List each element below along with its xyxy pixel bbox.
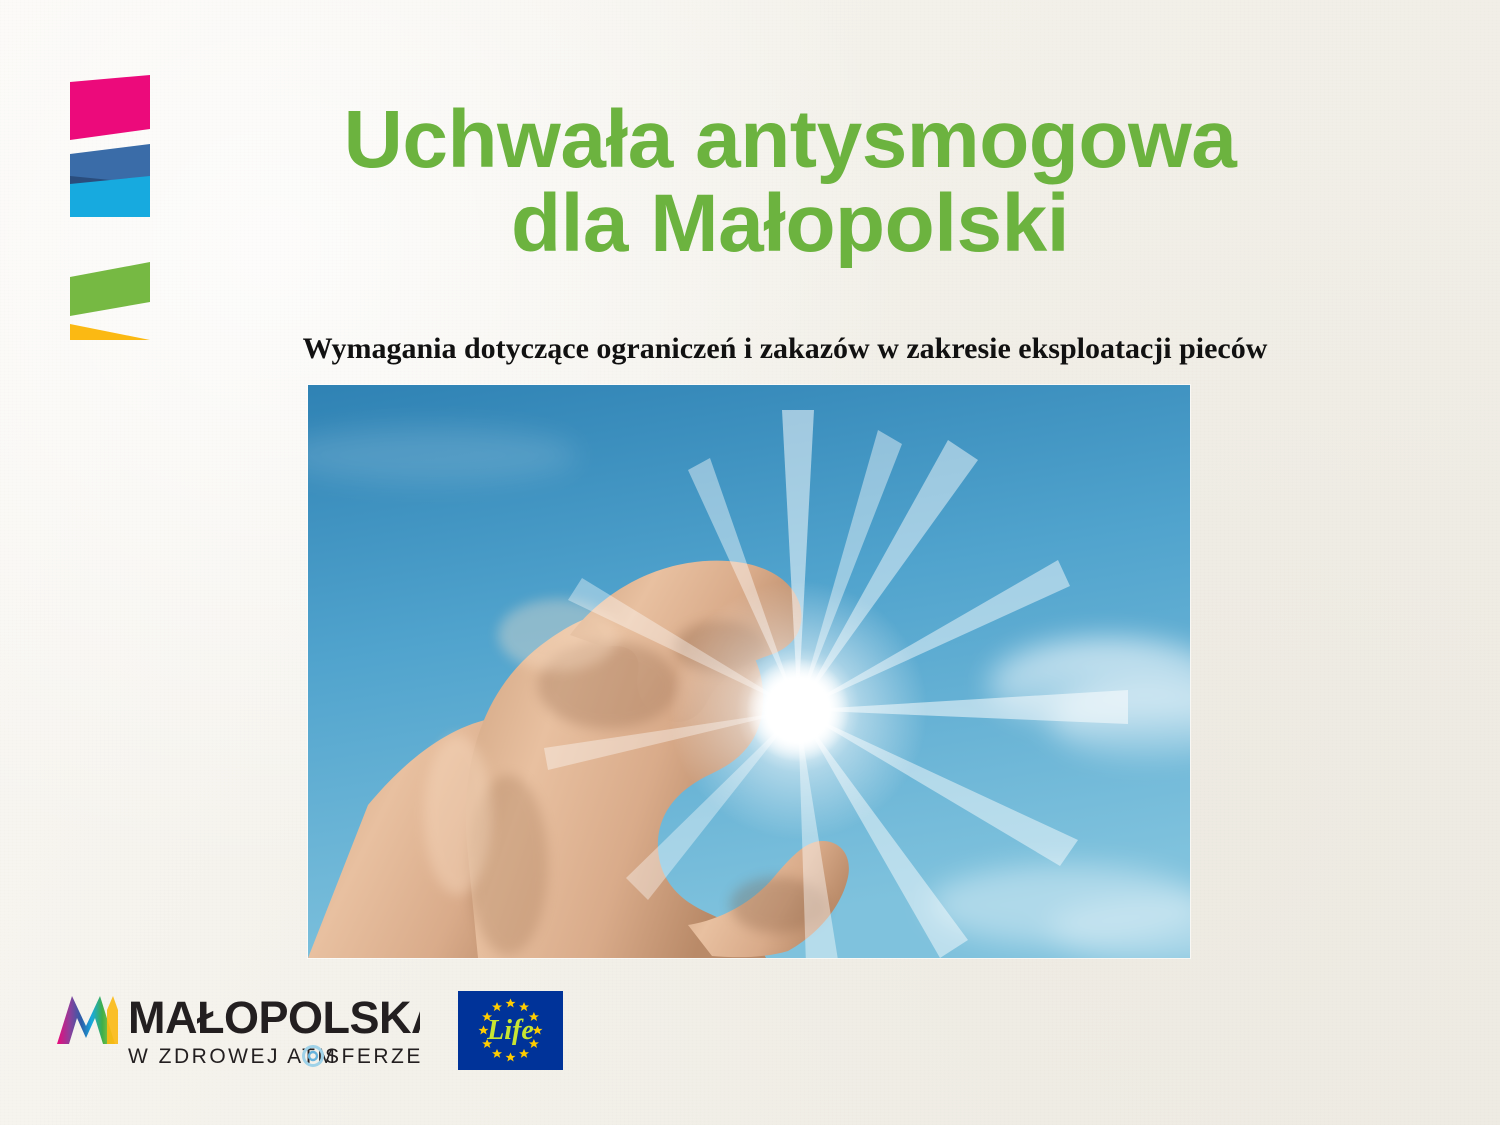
ribbon-band-yellow xyxy=(70,324,150,340)
ribbon-band-green xyxy=(70,262,150,316)
life-wordmark: Life xyxy=(486,1015,534,1046)
title-line-2: dla Małopolski xyxy=(200,182,1380,266)
page-title: Uchwała antysmogowa dla Małopolski xyxy=(200,98,1380,265)
hero-photo xyxy=(308,385,1190,958)
ribbon-band-magenta xyxy=(70,75,150,140)
page-subtitle: Wymagania dotyczące ograniczeń i zakazów… xyxy=(150,331,1420,367)
malopolska-ribbon-logo xyxy=(62,72,172,352)
brand-wordmark: MAŁOPOLSKA xyxy=(128,992,420,1043)
malopolska-brand-logo: MAŁOPOLSKA W ZDROWEJ ATM SFERZE xyxy=(55,988,420,1074)
mountain-m-icon xyxy=(57,996,118,1044)
title-line-1: Uchwała antysmogowa xyxy=(200,98,1380,182)
presentation-slide: Uchwała antysmogowa dla Małopolski Wymag… xyxy=(0,0,1500,1125)
eu-life-logo: Life xyxy=(458,991,563,1070)
brand-tagline-after: SFERZE xyxy=(325,1045,420,1068)
